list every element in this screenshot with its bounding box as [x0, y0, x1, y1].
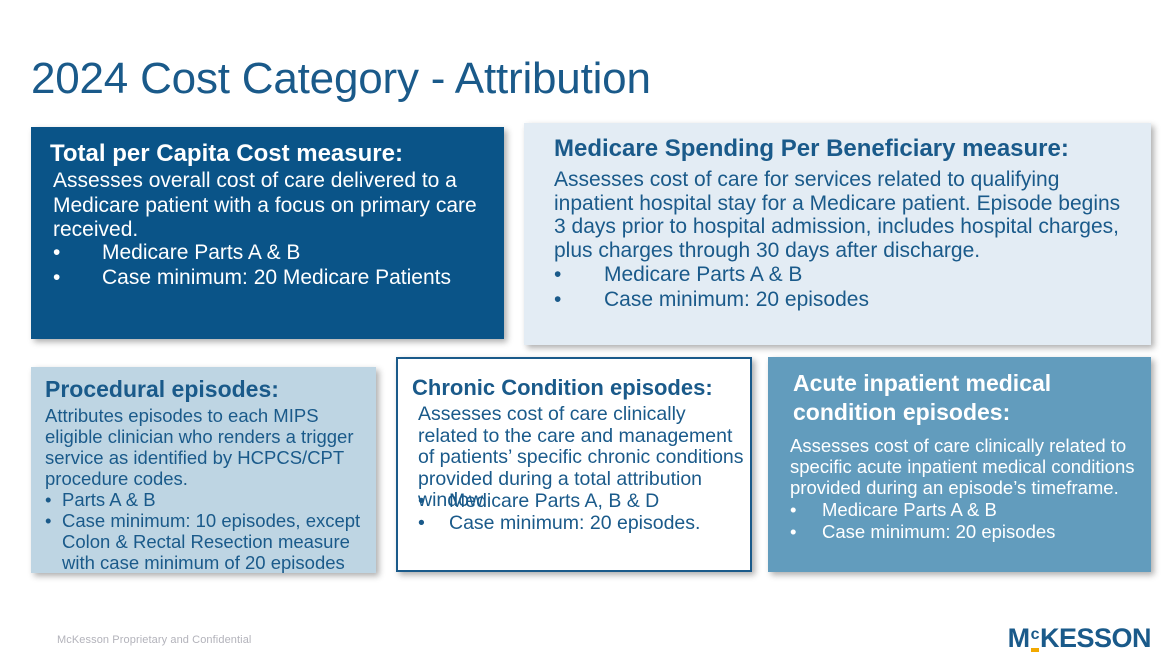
card-heading: Acute inpatient medical condition episod… [793, 369, 1138, 427]
list-item-label: Parts A & B [62, 489, 156, 510]
list-item: • Case minimum: 20 episodes [554, 288, 1134, 313]
list-item: • Case minimum: 20 Medicare Patients [53, 266, 493, 291]
confidentiality-footer: McKesson Proprietary and Confidential [57, 633, 251, 647]
bullet-dot-icon: • [418, 512, 425, 534]
list-item: • Medicare Parts A & B [554, 263, 1134, 288]
card-body-text: Attributes episodes to each MIPS eligibl… [45, 405, 370, 489]
list-item: • Case minimum: 10 episodes, except Colo… [45, 510, 375, 573]
card-bullet-list: • Parts A & B • Case minimum: 10 episode… [45, 489, 375, 573]
card-total-per-capita-cost: Total per Capita Cost measure: Assesses … [31, 127, 504, 339]
bullet-dot-icon: • [418, 490, 425, 512]
bullet-dot-icon: • [45, 510, 51, 531]
card-heading: Total per Capita Cost measure: [50, 138, 403, 169]
card-bullet-list: • Medicare Parts A & B • Case minimum: 2… [790, 499, 1140, 543]
slide-canvas: 2024 Cost Category - Attribution Total p… [0, 0, 1175, 656]
list-item: • Case minimum: 20 episodes [790, 521, 1140, 543]
card-procedural-episodes: Procedural episodes: Attributes episodes… [31, 367, 376, 573]
card-acute-inpatient-medical-condition-episodes: Acute inpatient medical condition episod… [768, 357, 1151, 572]
list-item-label: Case minimum: 10 episodes, except Colon … [62, 510, 360, 573]
card-heading: Procedural episodes: [45, 375, 279, 404]
card-bullet-list: • Medicare Parts A, B & D • Case minimum… [418, 490, 748, 534]
page-title: 2024 Cost Category - Attribution [31, 51, 1131, 107]
card-body-text: Assesses overall cost of care delivered … [53, 169, 487, 243]
list-item-label: Case minimum: 20 Medicare Patients [102, 266, 451, 289]
bullet-dot-icon: • [45, 489, 51, 510]
list-item-label: Case minimum: 20 episodes [604, 288, 869, 311]
list-item: • Medicare Parts A & B [790, 499, 1140, 521]
list-item: • Case minimum: 20 episodes. [418, 512, 748, 534]
list-item-label: Medicare Parts A & B [604, 263, 802, 286]
list-item-label: Medicare Parts A, B & D [449, 490, 659, 512]
bullet-dot-icon: • [554, 288, 561, 313]
card-medicare-spending-per-beneficiary: Medicare Spending Per Beneficiary measur… [524, 123, 1151, 345]
bullet-dot-icon: • [790, 521, 796, 543]
list-item-label: Case minimum: 20 episodes [822, 521, 1055, 542]
bullet-dot-icon: • [554, 263, 561, 288]
card-body-text: Assesses cost of care for services relat… [554, 168, 1134, 262]
list-item: • Medicare Parts A, B & D [418, 490, 748, 512]
card-heading: Chronic Condition episodes: [412, 373, 713, 402]
card-heading: Medicare Spending Per Beneficiary measur… [554, 133, 1069, 164]
bullet-dot-icon: • [790, 499, 796, 521]
card-bullet-list: • Medicare Parts A & B • Case minimum: 2… [53, 241, 493, 290]
logo-accent-underline-icon [1031, 648, 1039, 652]
list-item-label: Medicare Parts A & B [102, 241, 300, 264]
list-item: • Medicare Parts A & B [53, 241, 493, 266]
mckesson-logo: M c KESSON [1008, 624, 1151, 652]
list-item-label: Medicare Parts A & B [822, 499, 997, 520]
bullet-dot-icon: • [53, 241, 60, 266]
logo-letter-c: c [1031, 626, 1039, 643]
card-chronic-condition-episodes: Chronic Condition episodes: Assesses cos… [396, 357, 752, 572]
list-item-label: Case minimum: 20 episodes. [449, 512, 700, 534]
list-item: • Parts A & B [45, 489, 375, 510]
logo-letter-m: M [1008, 624, 1030, 652]
card-bullet-list: • Medicare Parts A & B • Case minimum: 2… [554, 263, 1134, 312]
logo-superscript-c-group: c [1031, 624, 1039, 657]
card-body-text: Assesses cost of care clinically related… [790, 435, 1140, 498]
logo-letters-kesson: KESSON [1040, 624, 1151, 652]
bullet-dot-icon: • [53, 266, 60, 291]
